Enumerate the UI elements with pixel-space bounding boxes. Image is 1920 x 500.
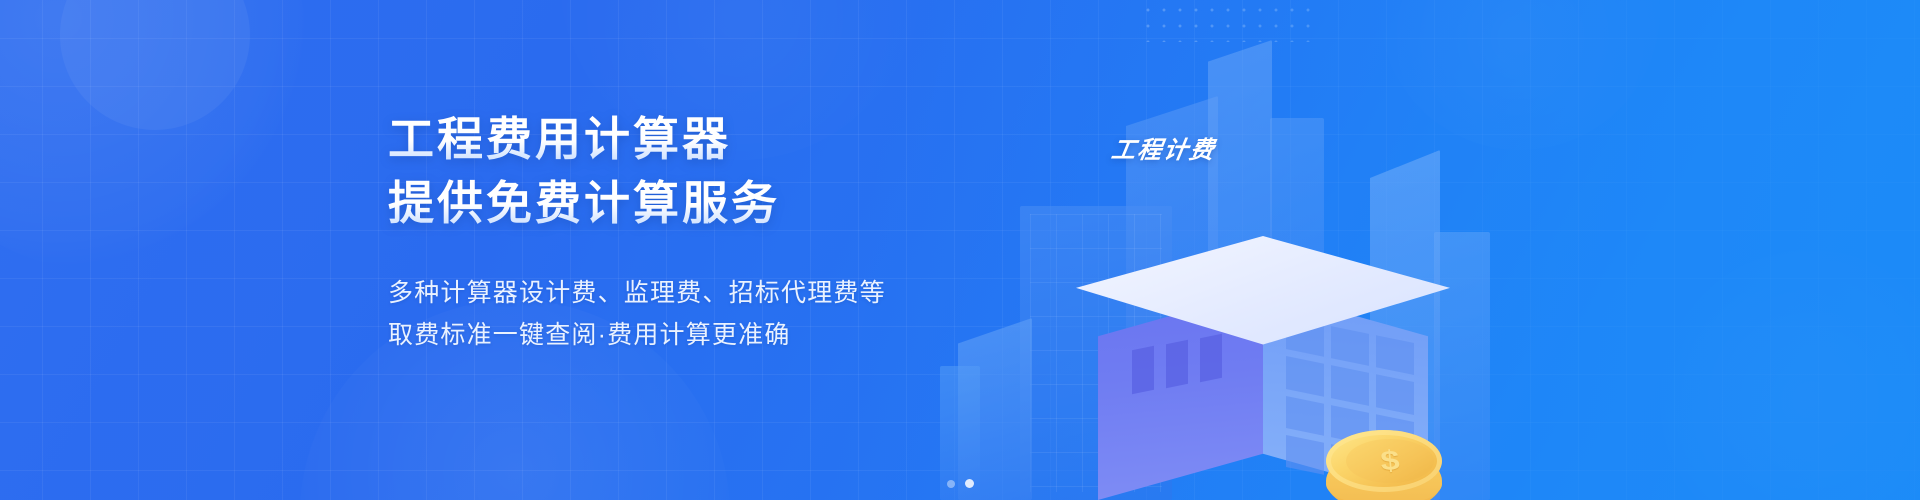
building-window: [1200, 334, 1222, 382]
subtitle-line-1: 多种计算器设计费、监理费、招标代理费等: [388, 272, 1008, 314]
hero-copy: 工程费用计算器 提供免费计算服务 多种计算器设计费、监理费、招标代理费等 取费标…: [388, 110, 1008, 356]
dollar-sign-icon: $: [1345, 440, 1436, 481]
building-window: [1331, 365, 1369, 405]
building-window: [1166, 340, 1188, 388]
building-window: [1132, 346, 1154, 394]
hero-subtitle: 多种计算器设计费、监理费、招标代理费等 取费标准一键查阅·费用计算更准确: [388, 272, 1008, 356]
hero-banner: $ 工程计费 工程费用计算器 提供免费计算服务 多种计算器设计费、监理费、招标代…: [0, 0, 1920, 500]
carousel-dot-active[interactable]: [965, 479, 974, 488]
building-window: [1331, 326, 1369, 366]
hero-illustration: $ 工程计费: [940, 0, 1580, 500]
building-window: [1376, 335, 1414, 375]
page-title-line-2: 提供免费计算服务: [388, 174, 1008, 232]
carousel-dots[interactable]: [0, 479, 1920, 488]
coin-inner-face: $: [1346, 439, 1434, 483]
building-window: [1376, 375, 1414, 415]
page-title-line-1: 工程费用计算器: [388, 110, 1008, 168]
carousel-dot[interactable]: [947, 480, 955, 488]
building-window: [1286, 395, 1324, 435]
subtitle-line-2: 取费标准一键查阅·费用计算更准确: [388, 314, 1008, 356]
illustration-label: 工程计费: [1109, 130, 1219, 165]
building-window: [1286, 435, 1324, 475]
building-window: [1286, 356, 1324, 396]
coin-icon: $: [1320, 430, 1448, 500]
building-icon: $: [1098, 246, 1428, 500]
